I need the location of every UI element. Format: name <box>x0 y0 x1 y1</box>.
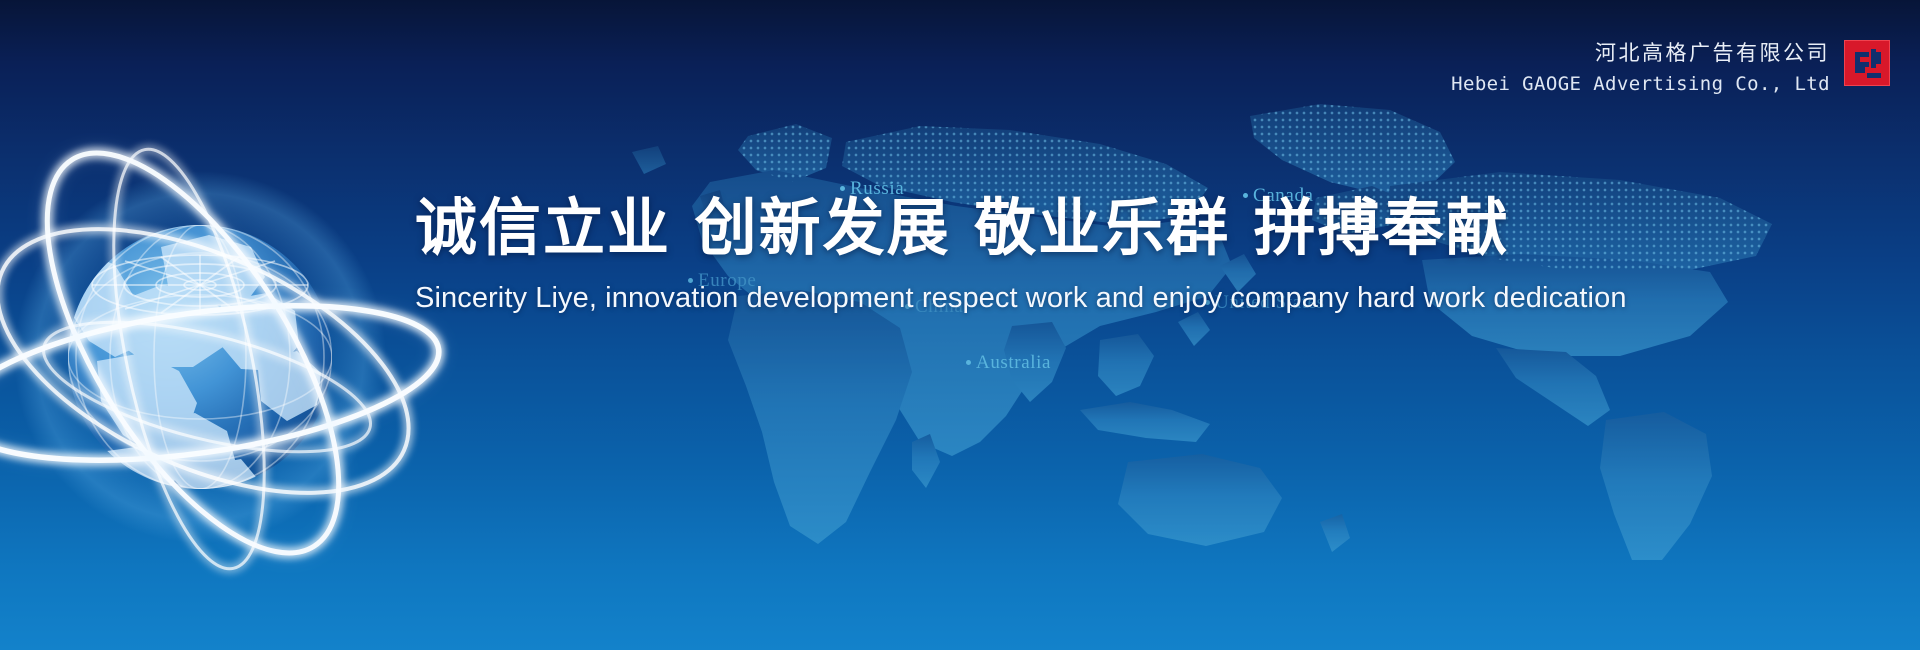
map-label-australia: Australia <box>966 352 1051 374</box>
company-name-en: Hebei GAOGE Advertising Co., Ltd <box>1451 70 1830 99</box>
map-label-text: Australia <box>976 352 1051 373</box>
globe-orbit-icon <box>0 95 435 605</box>
map-halftone-texture <box>560 90 1840 560</box>
slogan-chinese: 诚信立业 创新发展 敬业乐群 拼搏奉献 <box>415 195 1875 260</box>
company-name-group: 河北高格广告有限公司 Hebei GAOGE Advertising Co., … <box>1451 36 1830 99</box>
promotional-banner: Russia Canada Europe China United States… <box>0 0 1920 650</box>
map-marker-dot <box>840 186 845 191</box>
slogan-block: 诚信立业 创新发展 敬业乐群 拼搏奉献 Sincerity Liye, inno… <box>415 195 1875 315</box>
company-identity: 河北高格广告有限公司 Hebei GAOGE Advertising Co., … <box>1451 36 1890 99</box>
slogan-english: Sincerity Liye, innovation development r… <box>415 282 1875 315</box>
map-marker-dot <box>966 360 971 365</box>
world-map-icon <box>560 90 1840 560</box>
company-name-cn: 河北高格广告有限公司 <box>1451 38 1830 68</box>
gaoge-logo-icon <box>1844 40 1890 86</box>
